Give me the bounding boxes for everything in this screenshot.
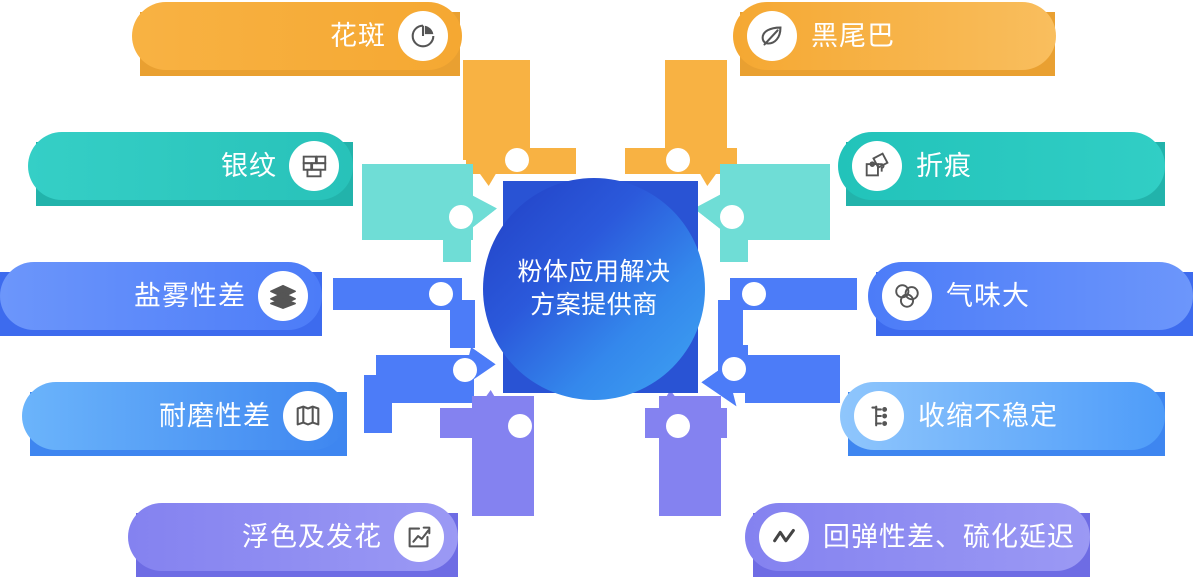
- connector-node: [505, 148, 529, 172]
- pill-item-1[interactable]: 黑尾巴: [733, 2, 1056, 70]
- pill-label: 收缩不稳定: [918, 403, 1058, 430]
- pill-item-9[interactable]: 回弹性差、硫化延迟: [745, 503, 1090, 571]
- connector-node: [720, 205, 744, 229]
- sitemap-icon: [854, 391, 904, 441]
- connector-segment: [665, 60, 727, 160]
- pill-label: 银纹: [221, 153, 277, 180]
- connector-segment: [745, 355, 840, 403]
- connector-node: [722, 357, 746, 381]
- pill-label: 回弹性差、硫化延迟: [823, 524, 1075, 551]
- pill-label: 耐磨性差: [159, 403, 271, 430]
- layers-icon: [258, 271, 308, 321]
- connector-segment: [364, 375, 392, 433]
- trending-up-box-icon: [394, 512, 444, 562]
- connector-node: [742, 282, 766, 306]
- pill-label: 气味大: [946, 283, 1030, 310]
- pill-item-7[interactable]: 收缩不稳定: [840, 382, 1165, 450]
- pill-item-6[interactable]: 耐磨性差: [22, 382, 347, 450]
- infographic-canvas: 花斑 黑尾巴 银纹: [0, 0, 1193, 577]
- pill-item-3[interactable]: 折痕: [838, 132, 1165, 200]
- pill-item-4[interactable]: 盐雾性差: [0, 262, 322, 330]
- connector-node: [429, 282, 453, 306]
- open-book-icon: [283, 391, 333, 441]
- connector-node: [666, 414, 690, 438]
- pill-item-0[interactable]: 花斑: [132, 2, 462, 70]
- recycle-icon: [882, 271, 932, 321]
- center-hub: 粉体应用解决 方案提供商: [483, 178, 705, 400]
- pie-chart-icon: [398, 11, 448, 61]
- puzzle-icon: [852, 141, 902, 191]
- pill-label: 折痕: [916, 153, 972, 180]
- center-title: 粉体应用解决 方案提供商: [517, 256, 670, 322]
- connector-segment: [718, 300, 743, 348]
- pill-item-2[interactable]: 银纹: [28, 132, 353, 200]
- connector-segment: [463, 60, 530, 160]
- pill-label: 花斑: [330, 23, 386, 50]
- leaf-icon: [747, 11, 797, 61]
- pill-item-5[interactable]: 气味大: [868, 262, 1193, 330]
- connector-node: [666, 148, 690, 172]
- pill-label: 黑尾巴: [811, 23, 895, 50]
- pill-label: 浮色及发花: [242, 524, 382, 551]
- line-chart-icon: [759, 512, 809, 562]
- pill-item-8[interactable]: 浮色及发花: [128, 503, 458, 571]
- brick-wall-icon: [289, 141, 339, 191]
- connector-node: [508, 414, 532, 438]
- connector-node: [453, 358, 477, 382]
- connector-segment: [450, 300, 475, 348]
- connector-node: [449, 205, 473, 229]
- pill-label: 盐雾性差: [134, 283, 246, 310]
